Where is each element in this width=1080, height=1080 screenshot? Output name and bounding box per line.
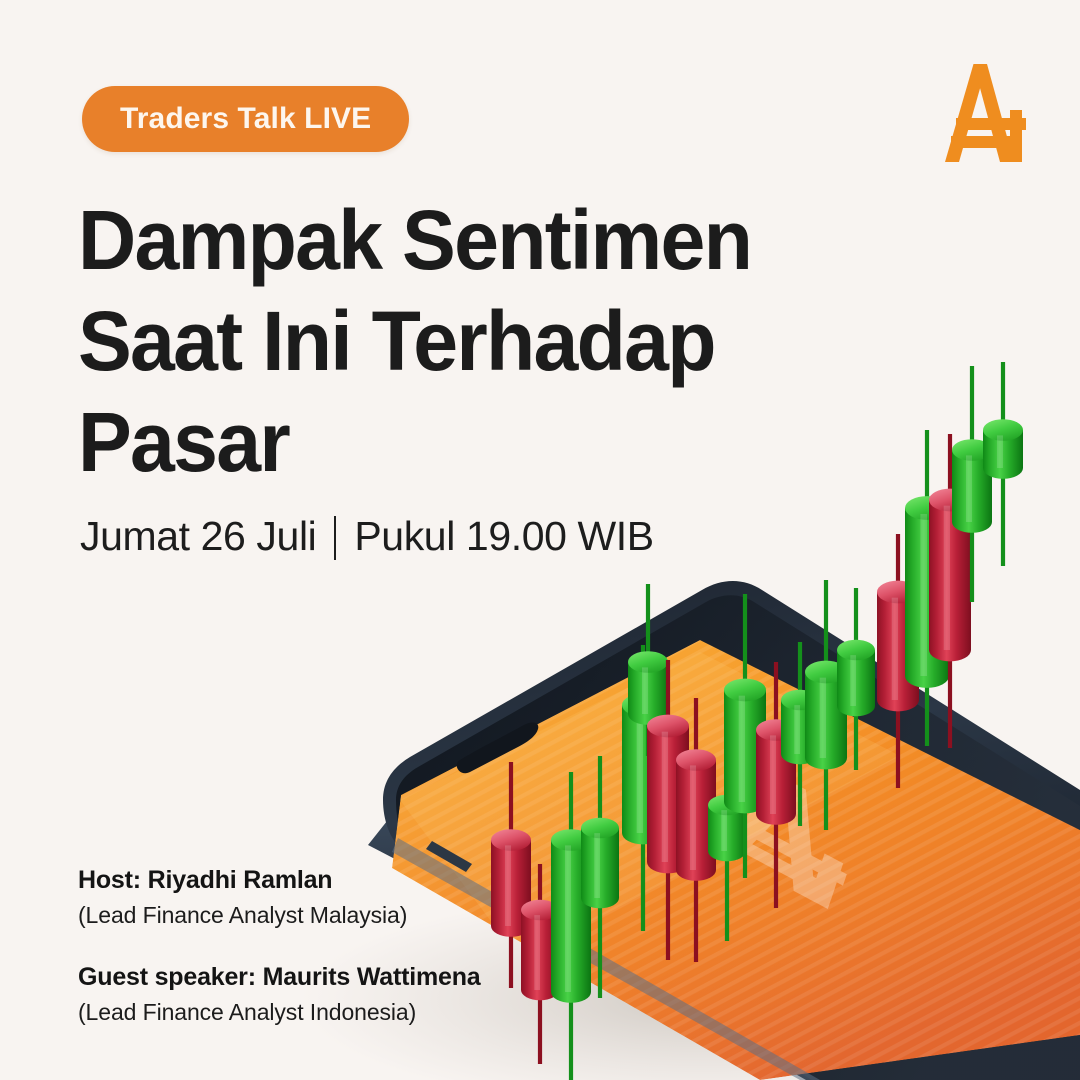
candle-body bbox=[708, 805, 746, 861]
host-role: (Lead Finance Analyst Malaysia) bbox=[78, 902, 481, 929]
phone-frame bbox=[383, 581, 1080, 1080]
candlestick-bullish bbox=[983, 362, 1023, 566]
candle-wick-lower bbox=[824, 752, 828, 830]
candle-wick-lower bbox=[725, 845, 729, 941]
candle-top-cap bbox=[929, 489, 971, 512]
candle-highlight bbox=[690, 765, 696, 870]
candlestick-bearish bbox=[647, 660, 689, 960]
candle-top-cap bbox=[491, 829, 531, 851]
candle-body bbox=[628, 662, 668, 725]
candle-wick-lower bbox=[925, 670, 929, 746]
host-name: Host: Riyadhi Ramlan bbox=[78, 866, 481, 895]
candle-wick-lower bbox=[538, 984, 542, 1064]
candle-wick-upper bbox=[569, 772, 573, 846]
candle-body bbox=[551, 840, 591, 1003]
octa-a-logo-icon bbox=[926, 58, 1038, 168]
candle-wick-upper bbox=[798, 642, 802, 706]
candle-body bbox=[724, 690, 766, 813]
candlestick-bullish bbox=[952, 366, 992, 602]
candle-highlight bbox=[565, 845, 571, 992]
candle-body bbox=[877, 592, 919, 711]
candle-wick-upper bbox=[970, 366, 974, 456]
candle-wick-upper bbox=[646, 584, 650, 668]
candle-top-cap bbox=[647, 715, 689, 738]
candle-body bbox=[647, 726, 689, 873]
candle-body bbox=[837, 650, 875, 716]
candlestick-bearish bbox=[676, 698, 716, 962]
candle-wick-upper bbox=[948, 434, 952, 506]
candle-highlight bbox=[920, 514, 927, 676]
candle-wick-upper bbox=[824, 580, 828, 678]
candle-top-cap bbox=[837, 640, 875, 661]
candle-wick-upper bbox=[1001, 362, 1005, 436]
candle-highlight bbox=[637, 711, 643, 833]
candle-wick-upper bbox=[725, 737, 729, 811]
candle-wick-lower bbox=[774, 808, 778, 908]
candle-wick-lower bbox=[641, 827, 645, 931]
candle-wick-upper bbox=[854, 588, 858, 656]
candle-wick-upper bbox=[666, 660, 670, 732]
candle-highlight bbox=[642, 667, 648, 714]
candle-wick-upper bbox=[509, 762, 513, 846]
candle-wick-lower bbox=[666, 856, 670, 960]
candle-body bbox=[781, 700, 819, 764]
candlestick-bullish bbox=[551, 772, 591, 1080]
candle-body bbox=[622, 705, 664, 844]
event-schedule: Jumat 26 Juli Pukul 19.00 WIB bbox=[80, 513, 654, 560]
candle-wick-lower bbox=[646, 708, 650, 756]
candle-wick-upper bbox=[743, 594, 747, 696]
phone-notch bbox=[457, 722, 539, 773]
guest-speaker-role: (Lead Finance Analyst Indonesia) bbox=[78, 999, 481, 1026]
candle-top-cap bbox=[877, 581, 919, 604]
live-badge: Traders Talk LIVE bbox=[82, 86, 409, 152]
candle-highlight bbox=[794, 705, 800, 754]
candlestick-bearish bbox=[877, 534, 919, 788]
candlestick-bullish bbox=[781, 642, 819, 826]
candle-wick-upper bbox=[641, 645, 645, 711]
candle-top-cap bbox=[521, 900, 559, 921]
candle-highlight bbox=[594, 833, 600, 898]
candlestick-bearish bbox=[929, 434, 971, 748]
guest-speaker-block: Guest speaker: Maurits Wattimena (Lead F… bbox=[78, 963, 481, 1026]
candle-body bbox=[676, 760, 716, 881]
candle-highlight bbox=[662, 732, 668, 862]
candle-top-cap bbox=[983, 419, 1023, 441]
host-block: Host: Riyadhi Ramlan (Lead Finance Analy… bbox=[78, 866, 481, 929]
candle-top-cap bbox=[805, 661, 847, 684]
candle-top-cap bbox=[756, 719, 796, 741]
candlestick-bullish bbox=[905, 430, 949, 746]
guest-speaker-name: Guest speaker: Maurits Wattimena bbox=[78, 963, 481, 992]
candle-wick-lower bbox=[598, 892, 602, 998]
candle-body bbox=[521, 910, 559, 1000]
candle-body bbox=[929, 500, 971, 661]
live-badge-label: Traders Talk LIVE bbox=[120, 102, 371, 136]
candlestick-bullish bbox=[622, 645, 664, 931]
schedule-separator bbox=[334, 516, 336, 560]
speakers-block: Host: Riyadhi Ramlan (Lead Finance Analy… bbox=[78, 866, 481, 1026]
candle-highlight bbox=[770, 735, 776, 814]
candle-highlight bbox=[892, 598, 898, 700]
candle-wick-lower bbox=[743, 796, 747, 878]
candle-top-cap bbox=[676, 749, 716, 771]
candle-highlight bbox=[739, 696, 745, 802]
candle-wick-upper bbox=[925, 430, 929, 514]
page-title: Dampak Sentimen Saat Ini Terhadap Pasar bbox=[78, 190, 798, 493]
candle-highlight bbox=[850, 655, 856, 706]
phone-screen bbox=[380, 620, 1080, 1080]
candle-wick-upper bbox=[694, 698, 698, 766]
candlestick-bullish bbox=[837, 588, 875, 770]
promo-poster: Traders Talk LIVE Dampak Sentimen Saat I… bbox=[0, 0, 1080, 1080]
candle-wick-lower bbox=[948, 644, 952, 748]
candle-top-cap bbox=[708, 795, 746, 816]
candle-top-cap bbox=[628, 651, 668, 673]
candle-highlight bbox=[534, 915, 540, 990]
candlestick-bearish bbox=[521, 864, 559, 1064]
phone-bezel-highlight bbox=[396, 595, 1080, 1080]
candle-body bbox=[983, 430, 1023, 479]
headline-line-3: Pasar bbox=[78, 392, 769, 493]
candle-wick-lower bbox=[694, 864, 698, 962]
candle-top-cap bbox=[551, 829, 591, 851]
candle-wick-lower bbox=[854, 700, 858, 770]
candle-highlight bbox=[505, 845, 511, 926]
candle-top-cap bbox=[952, 439, 992, 461]
candle-body bbox=[491, 840, 531, 937]
headline-line-1: Dampak Sentimen bbox=[78, 190, 769, 291]
candle-top-cap bbox=[622, 694, 664, 717]
candle-wick-upper bbox=[538, 864, 542, 916]
candlestick-bullish bbox=[805, 580, 847, 830]
candle-body bbox=[581, 828, 619, 908]
candlestick-bullish bbox=[581, 756, 619, 998]
headline-line-2: Saat Ini Terhadap bbox=[78, 291, 769, 392]
candle-body bbox=[805, 672, 847, 769]
candle-wick-upper bbox=[774, 662, 778, 736]
candlestick-bearish bbox=[491, 762, 531, 988]
candle-wick-lower bbox=[509, 920, 513, 988]
candlestick-bearish bbox=[756, 662, 796, 908]
candle-top-cap bbox=[724, 679, 766, 702]
event-date: Jumat 26 Juli bbox=[80, 513, 316, 560]
candle-body bbox=[952, 450, 992, 533]
candle-wick-lower bbox=[798, 748, 802, 826]
candlestick-bullish bbox=[708, 737, 746, 941]
candle-wick-upper bbox=[598, 756, 602, 834]
candle-top-cap bbox=[781, 690, 819, 711]
candle-top-cap bbox=[905, 496, 949, 520]
candle-wick-lower bbox=[896, 694, 900, 788]
candle-body bbox=[756, 730, 796, 825]
screen-watermark-logo-icon bbox=[715, 758, 865, 913]
candle-highlight bbox=[820, 678, 826, 758]
candle-wick-upper bbox=[896, 534, 900, 598]
candlestick-bullish bbox=[724, 594, 766, 878]
candle-wick-lower bbox=[1001, 462, 1005, 566]
candle-wick-lower bbox=[569, 986, 573, 1080]
candlestick-bullish bbox=[628, 584, 668, 756]
candle-body bbox=[905, 508, 949, 688]
candle-highlight bbox=[944, 506, 950, 650]
screen-stripes bbox=[380, 620, 1080, 1080]
candle-top-cap bbox=[581, 818, 619, 839]
candle-highlight bbox=[966, 455, 972, 522]
candle-wick-lower bbox=[970, 516, 974, 602]
candle-highlight bbox=[997, 435, 1003, 468]
event-time: Pukul 19.00 WIB bbox=[354, 513, 653, 560]
candle-highlight bbox=[721, 810, 727, 851]
